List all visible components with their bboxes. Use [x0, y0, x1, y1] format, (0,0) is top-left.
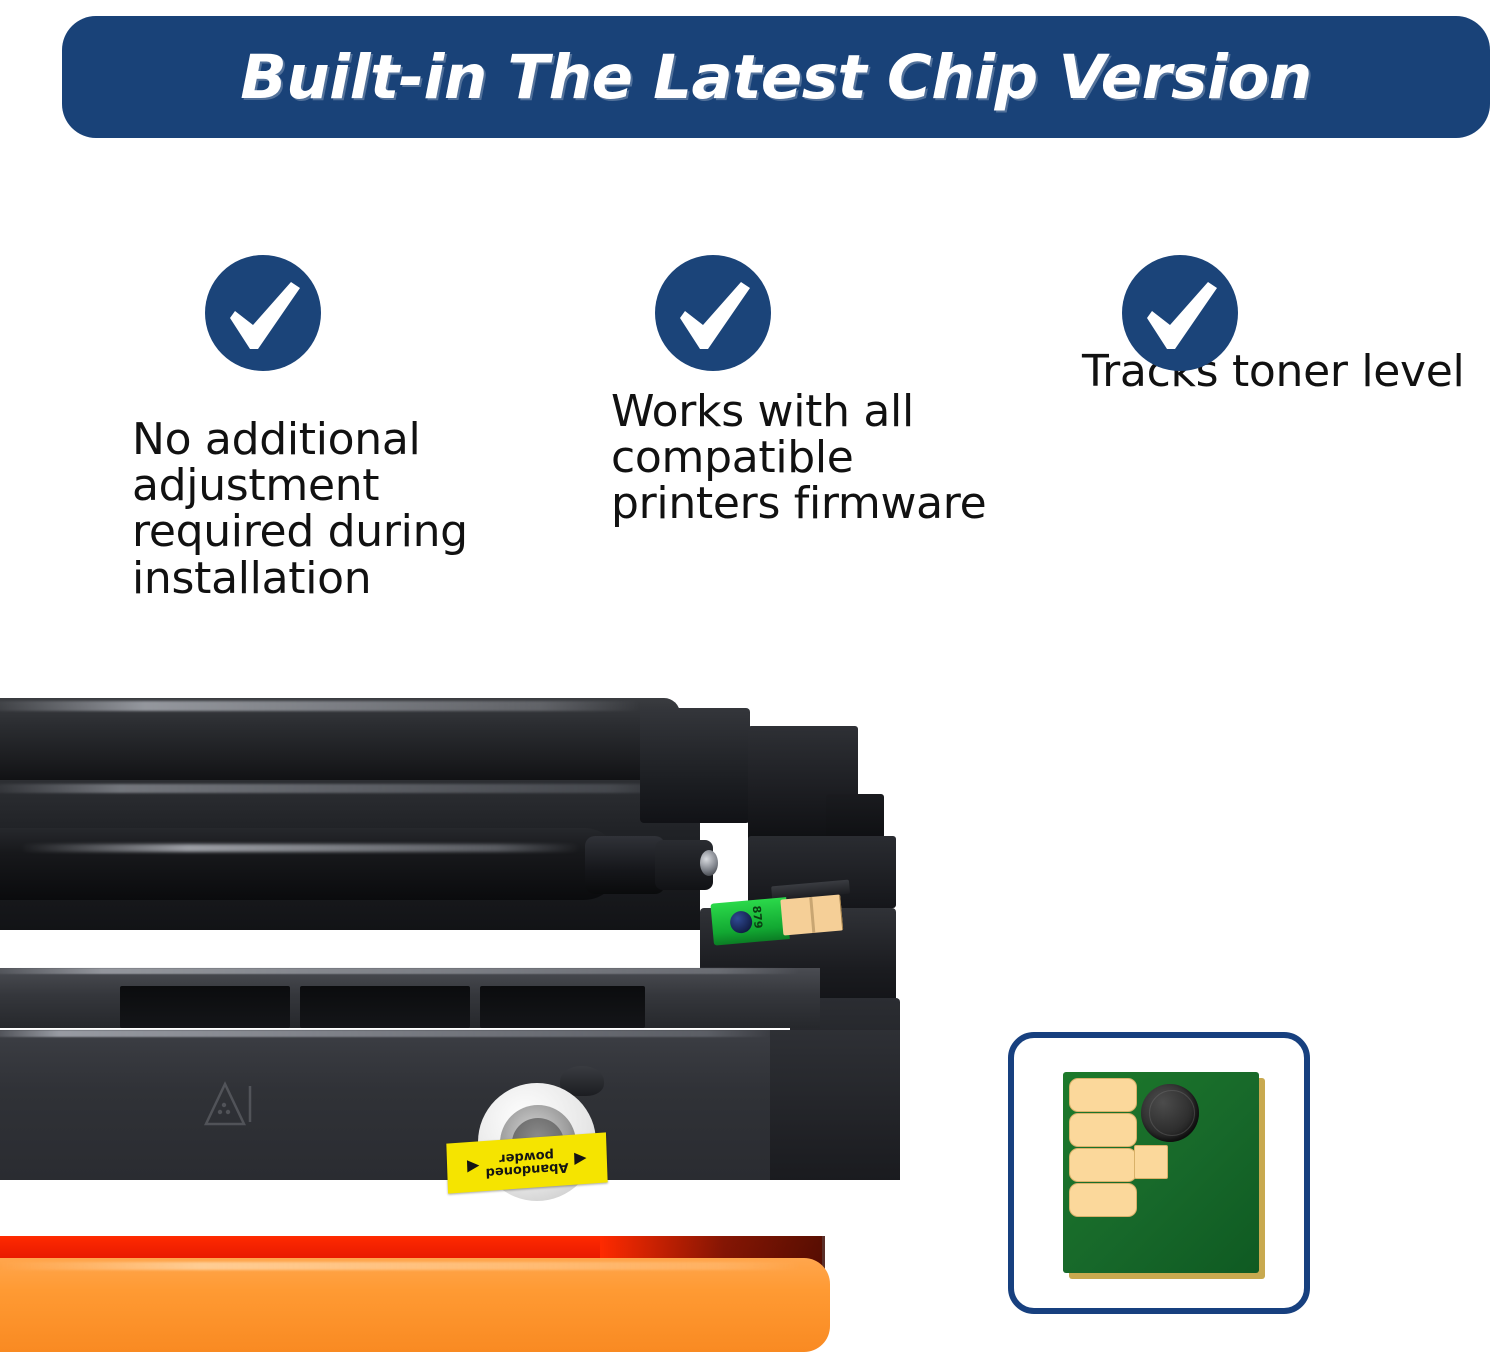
roller-end-cap — [585, 836, 665, 894]
roller-screw — [700, 850, 718, 876]
feature-item-no-adjustment: No additional adjustment required during… — [120, 255, 520, 602]
feature-item-tracks-toner: Tracks toner level — [1080, 255, 1500, 395]
label-content: ◀ Abandoned powder ◀ — [467, 1146, 587, 1180]
chip-contact-pad — [1069, 1078, 1137, 1112]
feature-list: No additional adjustment required during… — [0, 255, 1500, 665]
feature-text: No additional adjustment required during… — [132, 417, 520, 602]
feature-item-firmware-compatible: Works with all compatible printers firmw… — [605, 255, 1035, 528]
vent-slot — [480, 986, 645, 1028]
recycle-emboss-icon — [190, 1078, 260, 1136]
check-icon-wrap — [655, 255, 885, 395]
deck-edge-highlight — [0, 968, 800, 974]
chip-contact-pad — [1069, 1148, 1137, 1182]
chip-closeup-image — [1063, 1072, 1263, 1277]
vent-slot — [300, 986, 470, 1028]
chip-pcb-board — [1063, 1072, 1259, 1273]
feature-line: installation — [132, 556, 520, 602]
feature-line: required during — [132, 509, 520, 555]
feature-line: Works with all — [611, 389, 1035, 435]
arrow-left-icon: ◀ — [574, 1151, 587, 1168]
banner-title: Built-in The Latest Chip Version — [240, 42, 1312, 113]
chip-contact-pad — [1069, 1113, 1137, 1147]
feature-line: No additional — [132, 417, 520, 463]
cartridge-base-orange — [0, 1258, 830, 1352]
roller-highlight — [20, 844, 580, 852]
check-circle-icon — [655, 255, 771, 371]
vent-slot — [120, 986, 290, 1028]
feature-text: Works with all compatible printers firmw… — [611, 389, 1035, 528]
feature-line: adjustment — [132, 463, 520, 509]
header-banner: Built-in The Latest Chip Version — [62, 16, 1490, 138]
label-text: Abandoned powder — [485, 1147, 569, 1179]
check-icon-wrap — [120, 255, 405, 395]
feature-line: compatible — [611, 435, 1035, 481]
chip-die-ring — [1149, 1090, 1195, 1136]
feature-line: printers firmware — [611, 481, 1035, 527]
base-orange-highlight — [0, 1262, 800, 1270]
cartridge-front-panel — [0, 1030, 780, 1180]
developer-roller — [0, 828, 620, 900]
front-panel-right-face — [770, 1030, 900, 1180]
chip-contact-pad — [1069, 1183, 1137, 1217]
cartridge-top-shell — [0, 698, 680, 788]
chip-square-pad — [1134, 1145, 1168, 1179]
top-shell-highlight — [0, 701, 640, 711]
side-housing-block-1 — [640, 708, 750, 823]
check-circle-icon — [205, 255, 321, 371]
chip-marking-text: 879 — [750, 905, 765, 929]
arrow-right-icon: ◀ — [467, 1158, 480, 1175]
mid-shell-highlight — [0, 784, 680, 793]
check-circle-icon — [1122, 255, 1238, 371]
front-panel-highlight — [0, 1030, 770, 1037]
